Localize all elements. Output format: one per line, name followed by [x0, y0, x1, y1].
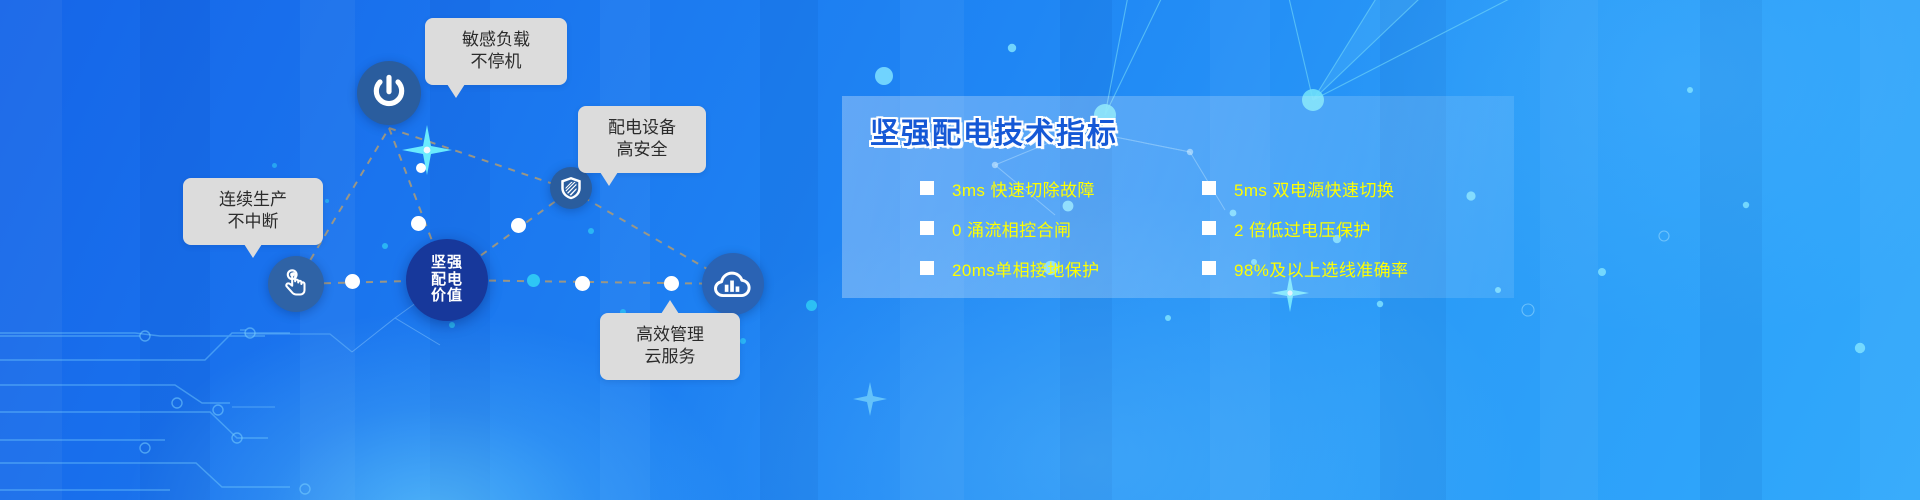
node-security-shield[interactable] [550, 167, 592, 209]
power-icon [369, 73, 409, 113]
core-value-label: 坚强 配电 价值 [431, 255, 463, 305]
cloud-chart-icon [712, 263, 754, 305]
tech-spec-panel: 坚强配电技术指标 3ms 快速切除故障 5ms 双电源快速切换 0 涌流相控合闸… [842, 96, 1514, 298]
callout-continuous-production: 连续生产 不中断 [183, 178, 323, 245]
node-power-button[interactable] [357, 61, 421, 125]
spec-item: 20ms单相接地保护 [920, 256, 1202, 281]
accent-dot [740, 338, 746, 344]
accent-dot [806, 300, 817, 311]
connector-dot [345, 274, 360, 289]
spec-item: 5ms 双电源快速切换 [1202, 176, 1500, 201]
spec-item-label: 3ms 快速切除故障 [952, 176, 1095, 201]
spec-panel-title: 坚强配电技术指标 [870, 110, 1118, 152]
promo-banner: 坚强 配电 价值 敏感负载 不停机 配电设备 高安全 连续生产 不中断 高效管理… [0, 0, 1920, 500]
callout-cloud-service: 高效管理 云服务 [600, 313, 740, 380]
spec-item-label: 0 涌流相控合闸 [952, 216, 1071, 241]
callout-sensitive-load: 敏感负载 不停机 [425, 18, 567, 85]
connector-dot [664, 276, 679, 291]
bg-stripe [1860, 0, 1920, 500]
spec-item: 3ms 快速切除故障 [920, 176, 1202, 201]
bullet-square-icon [1202, 221, 1216, 235]
accent-dot [449, 322, 455, 328]
bg-stripe [1700, 0, 1762, 500]
connector-dot [411, 216, 426, 231]
spec-item-label: 2 倍低过电压保护 [1234, 216, 1371, 241]
bg-stripe [1540, 0, 1598, 500]
bullet-square-icon [1202, 181, 1216, 195]
accent-dot [382, 243, 388, 249]
bullet-square-icon [920, 181, 934, 195]
connector-dot [575, 276, 590, 291]
spec-item: 0 涌流相控合闸 [920, 216, 1202, 241]
connector-dot [511, 218, 526, 233]
spec-item-grid: 3ms 快速切除故障 5ms 双电源快速切换 0 涌流相控合闸 2 倍低过电压保… [920, 168, 1500, 288]
spec-item: 2 倍低过电压保护 [1202, 216, 1500, 241]
spec-item-label: 98%及以上选线准确率 [1234, 256, 1408, 281]
node-touch-control[interactable] [268, 256, 324, 312]
spec-item-label: 5ms 双电源快速切换 [1234, 176, 1394, 201]
accent-dot [272, 163, 277, 168]
bullet-square-icon [920, 221, 934, 235]
spec-item-label: 20ms单相接地保护 [952, 256, 1100, 281]
node-core-value[interactable]: 坚强 配电 价值 [406, 239, 488, 321]
hand-tap-icon [279, 267, 313, 301]
accent-dot [527, 274, 540, 287]
connector-dot [416, 163, 426, 173]
value-node-diagram: 坚强 配电 价值 敏感负载 不停机 配电设备 高安全 连续生产 不中断 高效管理… [0, 0, 900, 500]
accent-dot [325, 199, 329, 203]
accent-dot [588, 228, 594, 234]
callout-equipment-safety: 配电设备 高安全 [578, 106, 706, 173]
bullet-square-icon [1202, 261, 1216, 275]
shield-icon [558, 175, 584, 201]
bullet-square-icon [920, 261, 934, 275]
node-cloud-analytics[interactable] [702, 253, 764, 315]
spec-item: 98%及以上选线准确率 [1202, 256, 1500, 281]
